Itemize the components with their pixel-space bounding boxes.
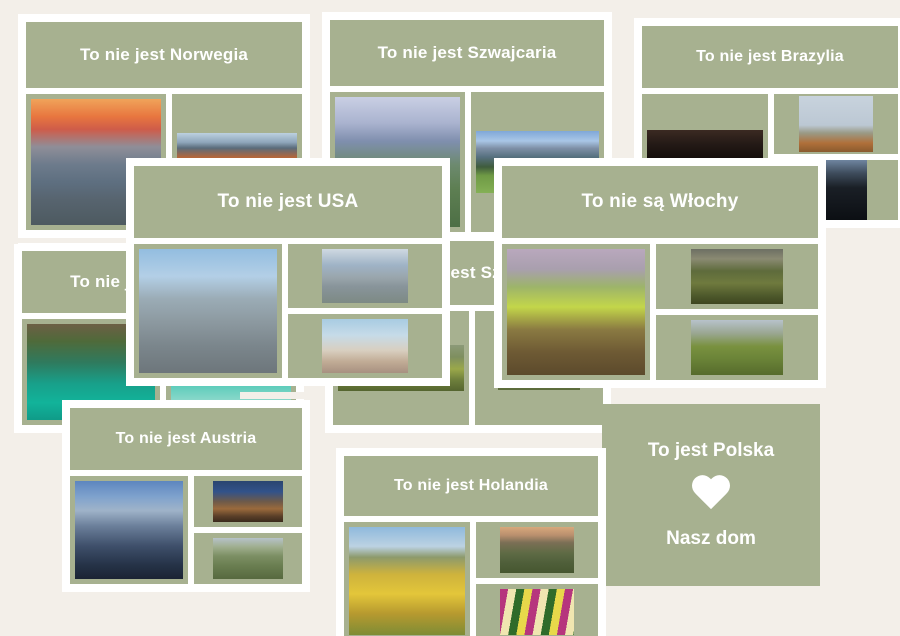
tulip-rows-photo: [500, 589, 574, 635]
collage-canvas: To nie jest Norwegia To nie jest Szwajca…: [0, 0, 900, 636]
vineyard-valley-photo: [691, 320, 783, 375]
windmill-photo: [500, 527, 574, 573]
photo-cell[interactable]: [344, 522, 470, 636]
blue-skyline-photo: [139, 249, 277, 373]
photo-column: [476, 522, 598, 636]
card-title-wlochy: To nie są Włochy: [502, 166, 818, 238]
card-austria[interactable]: To nie jest Austria: [62, 400, 310, 592]
glass-tower-photo: [322, 319, 408, 373]
card-wlochy[interactable]: To nie są Włochy: [494, 158, 826, 388]
photo-cell[interactable]: [288, 244, 442, 308]
photo-cell[interactable]: [134, 244, 282, 378]
photo-cell[interactable]: [194, 533, 302, 584]
photo-cell[interactable]: [774, 94, 898, 154]
card-usa[interactable]: To nie jest USA: [126, 158, 450, 386]
card-title-brazylia: To nie jest Brazylia: [642, 26, 898, 88]
photo-cell[interactable]: [656, 315, 818, 380]
old-town-night-photo: [213, 481, 283, 522]
card-title-austria: To nie jest Austria: [70, 408, 302, 470]
photo-grid-usa: [134, 244, 442, 378]
card-title-norwegia: To nie jest Norwegia: [26, 22, 302, 88]
photo-cell[interactable]: [288, 314, 442, 378]
polska-title: To jest Polska: [648, 440, 774, 462]
christ-statue-photo: [799, 96, 873, 152]
gap-strip: [240, 392, 312, 399]
photo-column: [194, 476, 302, 584]
vineyard-hill-photo: [691, 249, 783, 304]
photo-cell[interactable]: [70, 476, 188, 584]
card-title-szwajcaria: To nie jest Szwajcaria: [330, 20, 604, 86]
heart-icon: [690, 476, 732, 514]
polska-subtitle: Nasz dom: [666, 528, 756, 550]
sunflower-field-photo: [349, 527, 465, 635]
card-title-holandia: To nie jest Holandia: [344, 456, 598, 516]
photo-cell[interactable]: [476, 584, 598, 636]
photo-column: [656, 244, 818, 380]
card-title-usa: To nie jest USA: [134, 166, 442, 238]
photo-cell[interactable]: [656, 244, 818, 309]
card-holandia[interactable]: To nie jest Holandia: [336, 448, 606, 636]
photo-grid-wlochy: [502, 244, 818, 380]
winter-mountain-town-photo: [75, 481, 183, 579]
photo-cell[interactable]: [194, 476, 302, 527]
rock-forest-photo: [213, 538, 283, 579]
vineyard-rows-tall-photo: [507, 249, 645, 375]
photo-column: [288, 244, 442, 378]
photo-grid-holandia: [344, 522, 598, 636]
gap-strip: [0, 236, 18, 244]
downtown-day-photo: [322, 249, 408, 303]
card-polska[interactable]: To jest Polska Nasz dom: [602, 404, 820, 586]
photo-cell[interactable]: [476, 522, 598, 578]
photo-grid-austria: [70, 476, 302, 584]
photo-cell[interactable]: [502, 244, 650, 380]
